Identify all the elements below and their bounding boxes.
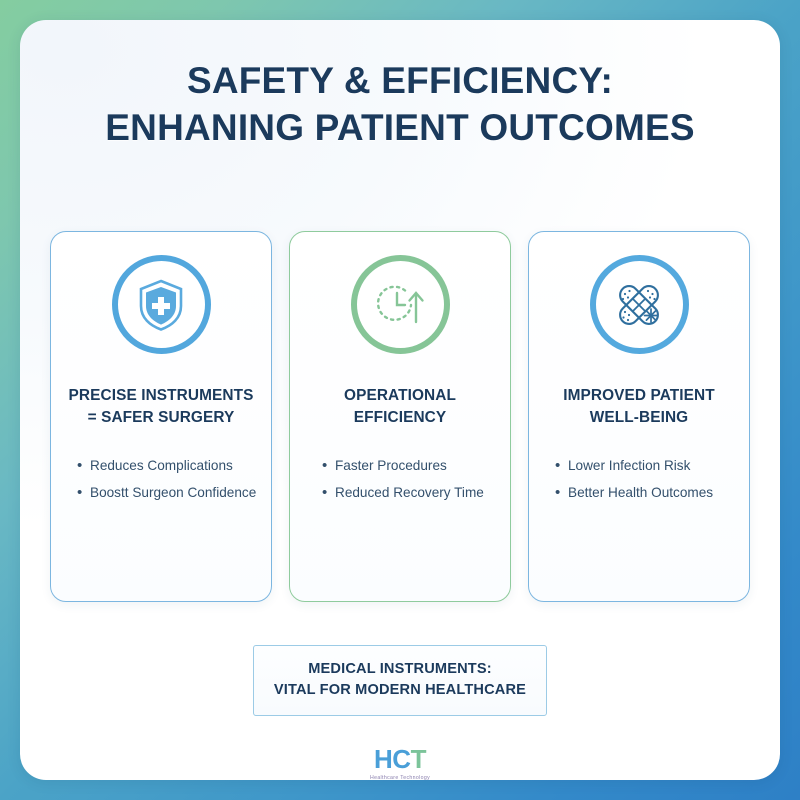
- list-item: Better Health Outcomes: [555, 482, 735, 503]
- card-improved-patient-wellbeing: IMPROVED PATIENT WELL-BEING Lower Infect…: [528, 231, 750, 602]
- list-item: Boostt Surgeon Confidence: [77, 482, 257, 503]
- card-bullet-list: Reduces Complications Boostt Surgeon Con…: [65, 455, 257, 509]
- list-item: Faster Procedures: [322, 455, 496, 476]
- title-line-2: ENHANING PATIENT OUTCOMES: [60, 105, 740, 152]
- footer-banner-line-2: VITAL FOR MODERN HEALTHCARE: [264, 680, 536, 701]
- card-heading: OPERATIONAL EFFICIENCY: [344, 385, 456, 429]
- cards-row: PRECISE INSTRUMENTS = SAFER SURGERY Redu…: [50, 231, 750, 602]
- footer-banner: MEDICAL INSTRUMENTS: VITAL FOR MODERN HE…: [253, 645, 547, 716]
- logo-wordmark: HCT: [330, 746, 470, 772]
- card-heading-line-2: WELL-BEING: [590, 409, 688, 426]
- card-heading-line-2: = SAFER SURGERY: [88, 409, 235, 426]
- logo-letter-c: C: [392, 744, 410, 774]
- title-line-1: SAFETY & EFFICIENCY:: [60, 58, 740, 105]
- footer-banner-line-1: MEDICAL INSTRUMENTS:: [264, 659, 536, 680]
- shield-cross-icon: [112, 255, 211, 354]
- card-precise-instruments: PRECISE INSTRUMENTS = SAFER SURGERY Redu…: [50, 231, 272, 602]
- brand-logo: HCT Healthcare Technology: [330, 746, 470, 780]
- card-bullet-list: Lower Infection Risk Better Health Outco…: [543, 455, 735, 509]
- crossed-bandages-icon: [590, 255, 689, 354]
- card-operational-efficiency: OPERATIONAL EFFICIENCY Faster Procedures…: [289, 231, 511, 602]
- card-bullet-list: Faster Procedures Reduced Recovery Time: [304, 455, 496, 509]
- card-heading: IMPROVED PATIENT WELL-BEING: [563, 385, 715, 429]
- card-heading-line-1: PRECISE INSTRUMENTS: [69, 387, 254, 404]
- logo-letter-h: H: [374, 744, 392, 774]
- card-heading-line-1: OPERATIONAL: [344, 387, 456, 404]
- infographic-panel: SAFETY & EFFICIENCY: ENHANING PATIENT OU…: [20, 20, 780, 780]
- list-item: Lower Infection Risk: [555, 455, 735, 476]
- page-title: SAFETY & EFFICIENCY: ENHANING PATIENT OU…: [20, 58, 780, 152]
- card-heading-line-1: IMPROVED PATIENT: [563, 387, 715, 404]
- logo-letter-t: T: [411, 744, 426, 774]
- card-heading-line-2: EFFICIENCY: [354, 409, 447, 426]
- list-item: Reduces Complications: [77, 455, 257, 476]
- clock-arrow-up-icon: [351, 255, 450, 354]
- card-heading: PRECISE INSTRUMENTS = SAFER SURGERY: [69, 385, 254, 429]
- logo-tagline: Healthcare Technology: [330, 775, 470, 780]
- list-item: Reduced Recovery Time: [322, 482, 496, 503]
